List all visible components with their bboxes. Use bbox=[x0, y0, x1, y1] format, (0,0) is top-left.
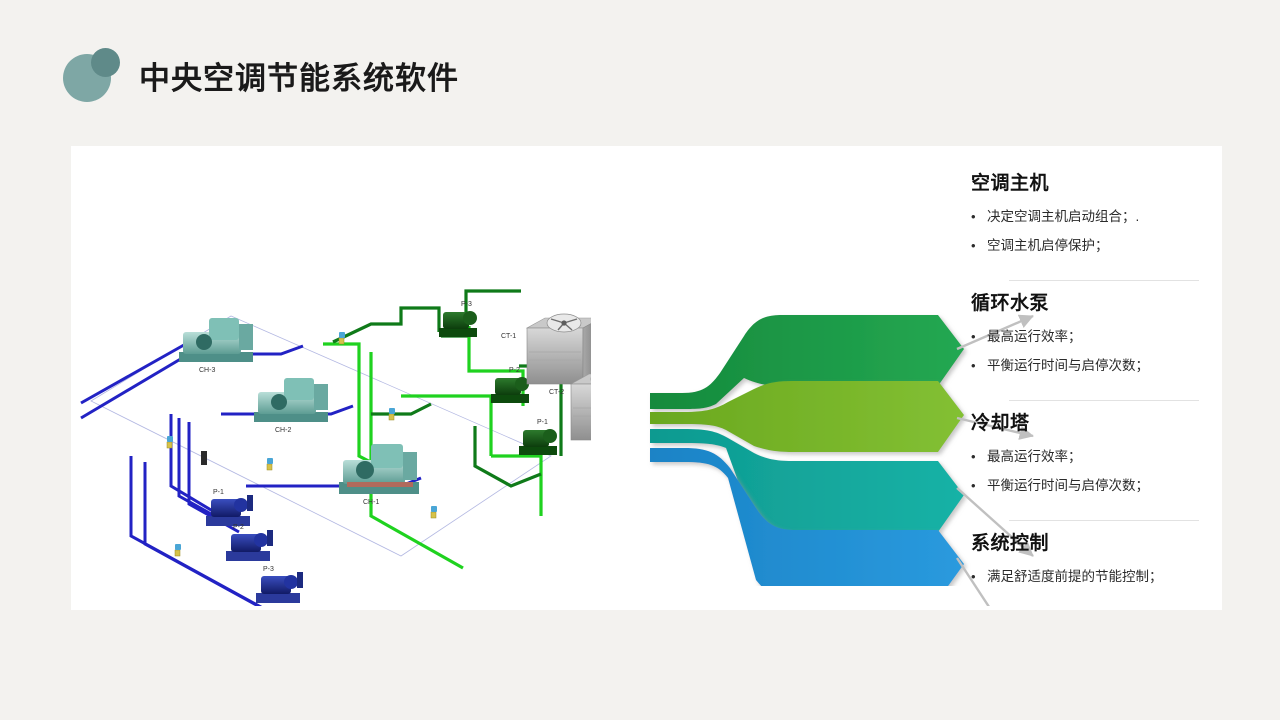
schematic-sensor bbox=[201, 451, 207, 465]
content-card: P-1 P-2 P-3 bbox=[71, 146, 1222, 610]
bullet-dot-icon: • bbox=[971, 446, 987, 468]
bullet-item: • 平衡运行时间与启停次数； bbox=[971, 475, 1221, 497]
schematic-label-cond-p1: P-1 bbox=[537, 419, 548, 426]
schematic-cond-pump-p3 bbox=[439, 311, 477, 337]
block-title-control: 系统控制 bbox=[971, 531, 1221, 557]
schematic-label-ch1: CH-1 bbox=[363, 499, 379, 506]
bullet-text: 空调主机启停保护； bbox=[987, 235, 1109, 257]
block-title-chiller: 空调主机 bbox=[971, 171, 1221, 197]
schematic-chiller-ch2 bbox=[254, 378, 328, 422]
brand-circles-logo bbox=[63, 48, 119, 102]
schematic-cond-pump-p2 bbox=[491, 377, 529, 403]
schematic-label-ct2: CT-2 bbox=[549, 389, 564, 396]
bullet-dot-icon: • bbox=[971, 326, 987, 348]
schematic-label-cond-p2: P-2 bbox=[509, 367, 520, 374]
feature-block-chiller: 空调主机 • 决定空调主机启动组合；. • 空调主机启停保护； bbox=[971, 171, 1221, 264]
block-bullets-chiller: • 决定空调主机启动组合；. • 空调主机启停保护； bbox=[971, 206, 1221, 257]
block-bullets-pump: • 最高运行效率； • 平衡运行时间与启停次数； bbox=[971, 326, 1221, 377]
bullet-item: • 满足舒适度前提的节能控制； bbox=[971, 566, 1221, 588]
hvac-schematic-illustration: P-1 P-2 P-3 bbox=[71, 156, 591, 606]
bullet-text: 平衡运行时间与启停次数； bbox=[987, 355, 1149, 377]
bullet-item: • 最高运行效率； bbox=[971, 326, 1221, 348]
bullet-text: 满足舒适度前提的节能控制； bbox=[987, 566, 1163, 588]
bullet-item: • 决定空调主机启动组合；. bbox=[971, 206, 1221, 228]
block-title-tower: 冷却塔 bbox=[971, 411, 1221, 437]
page-header: 中央空调节能系统软件 bbox=[0, 0, 1280, 146]
bullet-text: 决定空调主机启动组合；. bbox=[987, 206, 1139, 228]
schematic-label-p1: P-1 bbox=[213, 489, 224, 496]
block-divider bbox=[1009, 280, 1199, 281]
feature-block-tower: 冷却塔 • 最高运行效率； • 平衡运行时间与启停次数； bbox=[971, 411, 1221, 504]
bullet-text: 最高运行效率； bbox=[987, 446, 1082, 468]
schematic-chiller-ch3 bbox=[179, 318, 253, 362]
schematic-label-ct1: CT-1 bbox=[501, 333, 516, 340]
chilled-pump-p1 bbox=[206, 495, 253, 526]
schematic-cond-pump-p1 bbox=[519, 429, 557, 455]
bullet-dot-icon: • bbox=[971, 475, 987, 497]
block-bullets-control: • 满足舒适度前提的节能控制； bbox=[971, 566, 1221, 588]
bullet-item: • 最高运行效率； bbox=[971, 446, 1221, 468]
feature-block-pump: 循环水泵 • 最高运行效率； • 平衡运行时间与启停次数； bbox=[971, 291, 1221, 384]
bullet-dot-icon: • bbox=[971, 206, 987, 228]
logo-circle-small bbox=[91, 48, 120, 77]
chilled-pump-p2 bbox=[256, 572, 303, 603]
page-title: 中央空调节能系统软件 bbox=[139, 58, 459, 100]
block-divider bbox=[1009, 400, 1199, 401]
schematic-label-ch3: CH-3 bbox=[199, 367, 215, 374]
bullet-item: • 平衡运行时间与启停次数； bbox=[971, 355, 1221, 377]
bullet-dot-icon: • bbox=[971, 566, 987, 588]
block-bullets-tower: • 最高运行效率； • 平衡运行时间与启停次数； bbox=[971, 446, 1221, 497]
bullet-text: 最高运行效率； bbox=[987, 326, 1082, 348]
bullet-dot-icon: • bbox=[971, 355, 987, 377]
block-divider bbox=[1009, 520, 1199, 521]
feature-block-control: 系统控制 • 满足舒适度前提的节能控制； bbox=[971, 531, 1221, 595]
block-title-pump: 循环水泵 bbox=[971, 291, 1221, 317]
schematic-label-ch2: CH-2 bbox=[275, 427, 291, 434]
bullet-item: • 空调主机启停保护； bbox=[971, 235, 1221, 257]
schematic-label-cond-p3: P-3 bbox=[461, 301, 472, 308]
schematic-label-p3: P-3 bbox=[263, 566, 274, 573]
schematic-label-p2: P-2 bbox=[233, 524, 244, 531]
bullet-text: 平衡运行时间与启停次数； bbox=[987, 475, 1149, 497]
bullet-dot-icon: • bbox=[971, 235, 987, 257]
chilled-pump-p3 bbox=[226, 530, 273, 561]
schematic-chiller-ch1 bbox=[339, 444, 419, 494]
